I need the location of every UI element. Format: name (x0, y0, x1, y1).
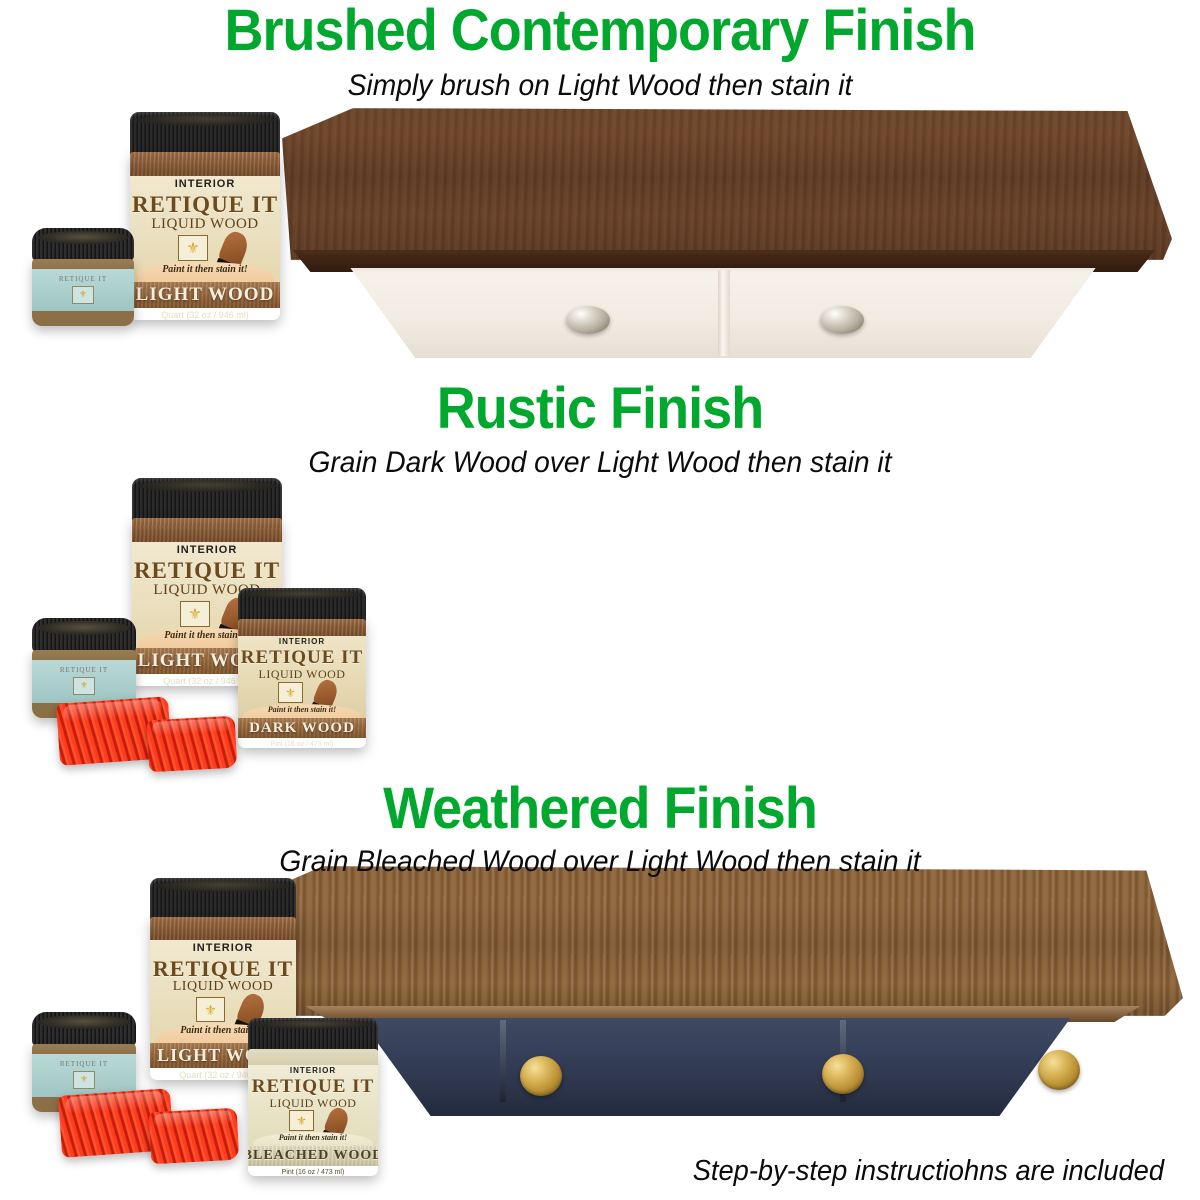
graining-rocker-tool-small (147, 716, 238, 773)
jar-lid-top (136, 114, 274, 126)
jar-text-tagline: Paint it then stain it! (130, 264, 280, 275)
jar-text-tagline: Paint it then stain it! (238, 705, 366, 714)
fleur-de-lis-icon: ⚜ (80, 1074, 88, 1085)
tub-lid (32, 1012, 136, 1046)
jar-name-band: DARK WOOD (238, 718, 366, 738)
tub-label: RETIQUE IT ⚜ (32, 269, 134, 312)
tub-label-brand: RETIQUE IT (40, 666, 127, 674)
jar-text-line: LIQUID WOOD (238, 667, 366, 682)
jar-name-band: BLEACHED WOOD (248, 1146, 378, 1166)
crest-icon: ⚜ (289, 1110, 314, 1131)
crest-icon: ⚜ (72, 286, 94, 304)
infographic-page: INTERIOR RETIQUE IT LIQUID WOOD ⚜ Paint … (0, 0, 1200, 1200)
fleur-de-lis-icon: ⚜ (79, 289, 87, 300)
jar-text-brand: RETIQUE IT (238, 647, 366, 669)
heading-weathered: Weathered Finish (42, 780, 1158, 838)
crest-icon: ⚜ (178, 235, 208, 261)
jar-text-line: LIQUID WOOD (130, 216, 280, 233)
jar-name-band: LIGHT WOOD (130, 282, 280, 308)
tub-label: RETIQUE IT ⚜ (32, 660, 136, 704)
jar-label: INTERIOR RETIQUE IT LIQUID WOOD ⚜ Paint … (238, 636, 366, 720)
jar-text-interior: INTERIOR (150, 942, 296, 954)
section-brushed-contemporary: INTERIOR RETIQUE IT LIQUID WOOD ⚜ Paint … (0, 0, 1200, 380)
jar-text-brand: RETIQUE IT (130, 192, 280, 218)
tub-lid (32, 228, 134, 261)
crest-icon: ⚜ (196, 997, 225, 1022)
tub-label-sub (40, 694, 127, 699)
jar-lid-top (253, 1020, 373, 1029)
fleur-de-lis-icon: ⚜ (296, 1115, 307, 1127)
tub-label-sub (40, 302, 126, 307)
jar-wood-band (150, 917, 296, 942)
tub-label: RETIQUE IT ⚜ (32, 1054, 136, 1098)
jar-text-brand: RETIQUE IT (248, 1076, 378, 1098)
knob-nickel-left (566, 306, 610, 334)
fleur-de-lis-icon: ⚜ (186, 241, 199, 256)
jar-text-name: DARK WOOD (249, 720, 355, 737)
subheading-brushed-contemporary: Simply brush on Light Wood then stain it (36, 70, 1164, 102)
furniture-photo-brushed-contemporary (250, 108, 1200, 358)
jar-text-line: LIQUID WOOD (248, 1096, 378, 1111)
jar-text-brand: RETIQUE IT (132, 558, 282, 584)
heading-rustic: Rustic Finish (42, 380, 1158, 438)
fleur-de-lis-icon: ⚜ (188, 607, 201, 622)
tub-label-brand: RETIQUE IT (40, 1060, 127, 1068)
tub-lid (32, 618, 136, 652)
crest-icon: ⚜ (73, 1071, 95, 1089)
crest-icon: ⚜ (278, 682, 303, 703)
product-jar-bleached-wood: INTERIOR RETIQUE IT LIQUID WOOD ⚜ Paint … (248, 1018, 378, 1176)
jar-text-interior: INTERIOR (132, 544, 282, 556)
jar-text-interior: INTERIOR (248, 1066, 378, 1075)
tub-label-brand: RETIQUE IT (40, 275, 126, 283)
tub-body: RETIQUE IT ⚜ (32, 259, 134, 326)
subheading-rustic: Grain Dark Wood over Light Wood then sta… (36, 447, 1164, 479)
tabletop-dark-walnut (282, 108, 1172, 260)
jar-text-size: Pint (16 oz / 473 ml) (238, 741, 366, 748)
crest-icon: ⚜ (180, 601, 210, 627)
tub-lid-top (38, 621, 130, 635)
heading-brushed-contemporary: Brushed Contemporary Finish (42, 2, 1158, 60)
jar-label: INTERIOR RETIQUE IT LIQUID WOOD ⚜ Paint … (130, 176, 280, 284)
tub-lid-top (38, 1015, 130, 1029)
graining-rocker-tool-small-weathered (149, 1108, 240, 1165)
fleur-de-lis-icon: ⚜ (80, 680, 88, 691)
jar-lid-top (138, 480, 276, 492)
jar-text-size: Quart (32 oz / 946 ml) (130, 310, 280, 320)
jar-body: INTERIOR RETIQUE IT LIQUID WOOD ⚜ Paint … (238, 619, 366, 748)
crest-icon: ⚜ (73, 677, 95, 695)
product-jar-light-wood: INTERIOR RETIQUE IT LIQUID WOOD ⚜ Paint … (130, 112, 280, 320)
jar-text-line: LIQUID WOOD (150, 979, 296, 995)
drawer-divider (718, 270, 730, 356)
tub-lid-top (38, 231, 128, 244)
jar-text-size: Pint (16 oz / 473 ml) (248, 1169, 378, 1176)
product-jar-dark-wood: INTERIOR RETIQUE IT LIQUID WOOD ⚜ Paint … (238, 588, 366, 748)
jar-text-interior: INTERIOR (238, 637, 366, 646)
product-tub-stain-glaze: RETIQUE IT ⚜ (32, 228, 134, 326)
jar-text-tagline: Paint it then stain it! (248, 1133, 378, 1142)
jar-body: INTERIOR RETIQUE IT LIQUID WOOD ⚜ Paint … (130, 152, 280, 320)
jar-text-name: BLEACHED WOOD (248, 1148, 378, 1164)
jar-text-name: LIGHT WOOD (136, 284, 275, 306)
jar-body: INTERIOR RETIQUE IT LIQUID WOOD ⚜ Paint … (248, 1049, 378, 1176)
fleur-de-lis-icon: ⚜ (204, 1003, 217, 1017)
jar-text-interior: INTERIOR (130, 178, 280, 190)
knob-nickel-right (820, 306, 864, 334)
jar-wood-band (130, 152, 280, 178)
jar-wood-band (132, 518, 282, 544)
subheading-weathered: Grain Bleached Wood over Light Wood then… (36, 846, 1164, 878)
jar-lid-top (243, 590, 361, 599)
fleur-de-lis-icon: ⚜ (285, 687, 296, 699)
jar-lid-top (156, 880, 290, 892)
jar-label: INTERIOR RETIQUE IT LIQUID WOOD ⚜ Paint … (248, 1065, 378, 1149)
